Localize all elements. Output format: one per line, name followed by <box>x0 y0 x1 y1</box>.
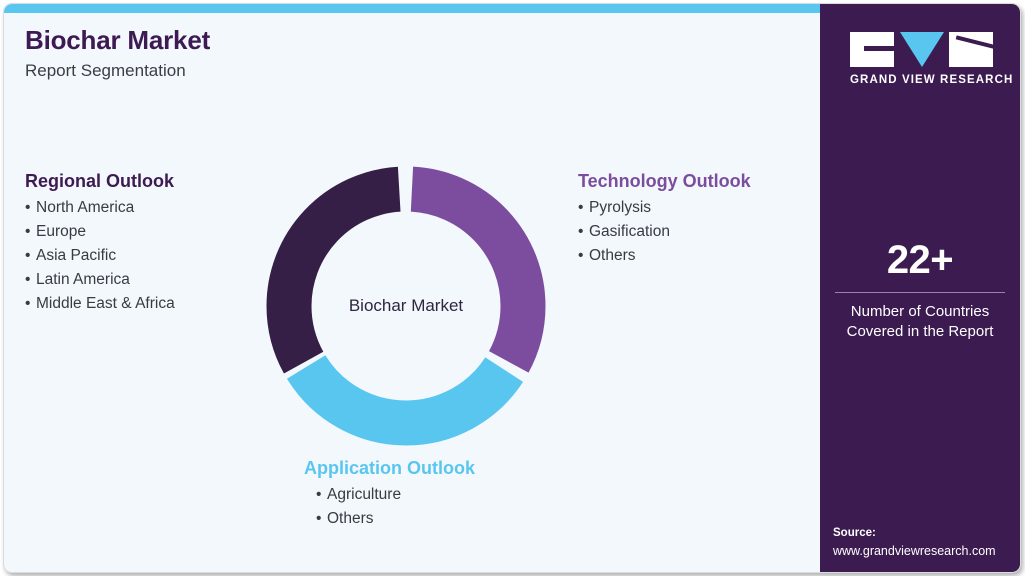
regional-outlook-heading: Regional Outlook <box>25 170 175 193</box>
source-label: Source: <box>833 525 1017 542</box>
list-item-label: Latin America <box>36 271 130 288</box>
application-outlook-heading: Application Outlook <box>304 457 475 480</box>
side-panel: GRAND VIEW RESEARCH 22+ Number of Countr… <box>820 4 1020 573</box>
logo-g-icon <box>850 32 894 67</box>
donut-svg <box>263 163 549 449</box>
bullet-icon: • <box>25 220 36 244</box>
regional-outlook-block: Regional Outlook •North America •Europe … <box>25 170 175 316</box>
bullet-icon: • <box>25 196 36 220</box>
logo-letter-marks <box>850 32 993 67</box>
list-item-label: Middle East & Africa <box>36 295 175 312</box>
page-title: Biochar Market <box>25 26 625 56</box>
infographic-root: Biochar Market Report Segmentation Regio… <box>0 0 1025 576</box>
regional-outlook-list: •North America •Europe •Asia Pacific •La… <box>25 196 175 317</box>
logo-v-icon <box>900 32 944 67</box>
stat-caption-line2: Covered in the Report <box>832 322 1008 342</box>
page-subtitle: Report Segmentation <box>25 61 625 81</box>
source-url[interactable]: www.grandviewresearch.com <box>833 542 1017 560</box>
list-item: •Middle East & Africa <box>25 292 175 316</box>
countries-stat: 22+ Number of Countries Covered in the R… <box>832 240 1008 342</box>
stat-divider <box>835 292 1005 293</box>
list-item: •Europe <box>25 220 175 244</box>
list-item: •Pyrolysis <box>578 196 751 220</box>
list-item-label: Pyrolysis <box>589 199 651 216</box>
technology-outlook-heading: Technology Outlook <box>578 170 751 193</box>
logo-r-icon <box>949 32 993 67</box>
list-item: •Asia Pacific <box>25 244 175 268</box>
stat-value: 22+ <box>832 240 1008 280</box>
technology-outlook-block: Technology Outlook •Pyrolysis •Gasificat… <box>578 170 751 268</box>
bullet-icon: • <box>578 196 589 220</box>
list-item: •Latin America <box>25 268 175 292</box>
bullet-icon: • <box>316 483 327 507</box>
segmentation-donut-chart: Biochar Market <box>263 163 549 449</box>
logo-wordmark: GRAND VIEW RESEARCH <box>850 74 993 86</box>
stat-caption-line1: Number of Countries <box>832 302 1008 322</box>
header: Biochar Market Report Segmentation <box>25 26 625 81</box>
list-item: •Others <box>316 507 475 531</box>
technology-outlook-list: •Pyrolysis •Gasification •Others <box>578 196 751 269</box>
bullet-icon: • <box>25 268 36 292</box>
grand-view-research-logo: GRAND VIEW RESEARCH <box>850 32 993 86</box>
list-item-label: Others <box>589 247 636 264</box>
list-item: •North America <box>25 196 175 220</box>
bullet-icon: • <box>578 244 589 268</box>
application-outlook-list: •Agriculture •Others <box>304 483 475 531</box>
list-item: •Agriculture <box>316 483 475 507</box>
infographic-card: Biochar Market Report Segmentation Regio… <box>3 3 1021 573</box>
bullet-icon: • <box>25 292 36 316</box>
list-item-label: Agriculture <box>327 486 401 503</box>
application-outlook-block: Application Outlook •Agriculture •Others <box>304 457 475 531</box>
list-item-label: North America <box>36 199 134 216</box>
bullet-icon: • <box>316 507 327 531</box>
source-block: Source: www.grandviewresearch.com <box>833 525 1017 560</box>
list-item: •Gasification <box>578 220 751 244</box>
logo-v-triangle-icon <box>900 32 944 67</box>
list-item-label: Asia Pacific <box>36 247 116 264</box>
list-item-label: Gasification <box>589 223 670 240</box>
bullet-icon: • <box>578 220 589 244</box>
list-item-label: Others <box>327 510 374 527</box>
list-item: •Others <box>578 244 751 268</box>
top-accent-bar <box>4 4 822 13</box>
list-item-label: Europe <box>36 223 86 240</box>
bullet-icon: • <box>25 244 36 268</box>
